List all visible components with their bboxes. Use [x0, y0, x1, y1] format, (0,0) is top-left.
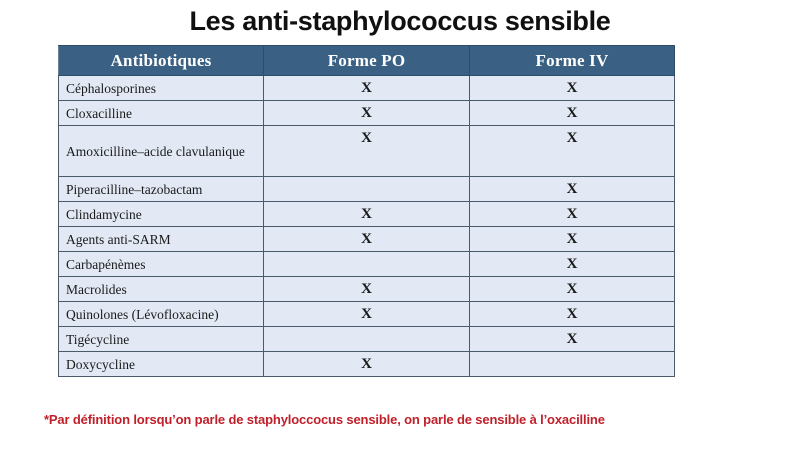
cell-antibiotic-name: Céphalosporines — [59, 76, 264, 101]
cell-forme-po-mark: X — [264, 101, 470, 126]
cell-forme-iv-mark: X — [470, 327, 675, 352]
column-header-forme-po: Forme PO — [264, 46, 470, 76]
cell-forme-iv-mark: X — [470, 277, 675, 302]
cell-forme-iv-mark — [470, 352, 675, 377]
cell-forme-po-mark — [264, 252, 470, 277]
cell-antibiotic-name: Piperacilline–tazobactam — [59, 177, 264, 202]
cell-forme-po-mark: X — [264, 277, 470, 302]
cell-forme-iv-mark: X — [470, 177, 675, 202]
cell-forme-po-mark: X — [264, 76, 470, 101]
column-header-forme-iv: Forme IV — [470, 46, 675, 76]
cell-forme-iv-mark: X — [470, 202, 675, 227]
table-row: CarbapénèmesX — [59, 252, 675, 277]
cell-forme-po-mark: X — [264, 302, 470, 327]
cell-antibiotic-name: Doxycycline — [59, 352, 264, 377]
footnote-oxacilline: *Par définition lorsqu’on parle de staph… — [44, 411, 605, 429]
cell-forme-iv-mark: X — [470, 252, 675, 277]
table-row: ClindamycineXX — [59, 202, 675, 227]
table-row: DoxycyclineX — [59, 352, 675, 377]
cell-antibiotic-name: Amoxicilline–acide clavulanique — [59, 126, 264, 177]
table-row: Piperacilline–tazobactamX — [59, 177, 675, 202]
cell-forme-iv-mark: X — [470, 126, 675, 177]
column-header-antibiotiques: Antibiotiques — [59, 46, 264, 76]
cell-antibiotic-name: Agents anti-SARM — [59, 227, 264, 252]
table-row: TigécyclineX — [59, 327, 675, 352]
cell-forme-po-mark — [264, 177, 470, 202]
table-header: Antibiotiques Forme PO Forme IV — [59, 46, 675, 76]
cell-antibiotic-name: Carbapénèmes — [59, 252, 264, 277]
cell-antibiotic-name: Tigécycline — [59, 327, 264, 352]
cell-forme-po-mark: X — [264, 227, 470, 252]
cell-antibiotic-name: Cloxacilline — [59, 101, 264, 126]
table-row: Quinolones (Lévofloxacine)XX — [59, 302, 675, 327]
table-row: CéphalosporinesXX — [59, 76, 675, 101]
cell-forme-iv-mark: X — [470, 302, 675, 327]
page-title: Les anti-staphylococcus sensible — [0, 5, 800, 37]
table-row: Agents anti-SARMXX — [59, 227, 675, 252]
cell-antibiotic-name: Macrolides — [59, 277, 264, 302]
slide-canvas: Les anti-staphylococcus sensible Antibio… — [0, 0, 800, 450]
table-row: Amoxicilline–acide clavulaniqueXX — [59, 126, 675, 177]
cell-antibiotic-name: Clindamycine — [59, 202, 264, 227]
table-header-row: Antibiotiques Forme PO Forme IV — [59, 46, 675, 76]
cell-forme-po-mark: X — [264, 126, 470, 177]
cell-forme-po-mark: X — [264, 202, 470, 227]
cell-forme-iv-mark: X — [470, 101, 675, 126]
table-row: CloxacillineXX — [59, 101, 675, 126]
cell-forme-iv-mark: X — [470, 227, 675, 252]
cell-forme-iv-mark: X — [470, 76, 675, 101]
antibiotics-route-table: Antibiotiques Forme PO Forme IV Céphalos… — [58, 45, 675, 377]
table-body: CéphalosporinesXXCloxacillineXXAmoxicill… — [59, 76, 675, 377]
cell-forme-po-mark: X — [264, 352, 470, 377]
table-row: MacrolidesXX — [59, 277, 675, 302]
cell-forme-po-mark — [264, 327, 470, 352]
cell-antibiotic-name: Quinolones (Lévofloxacine) — [59, 302, 264, 327]
